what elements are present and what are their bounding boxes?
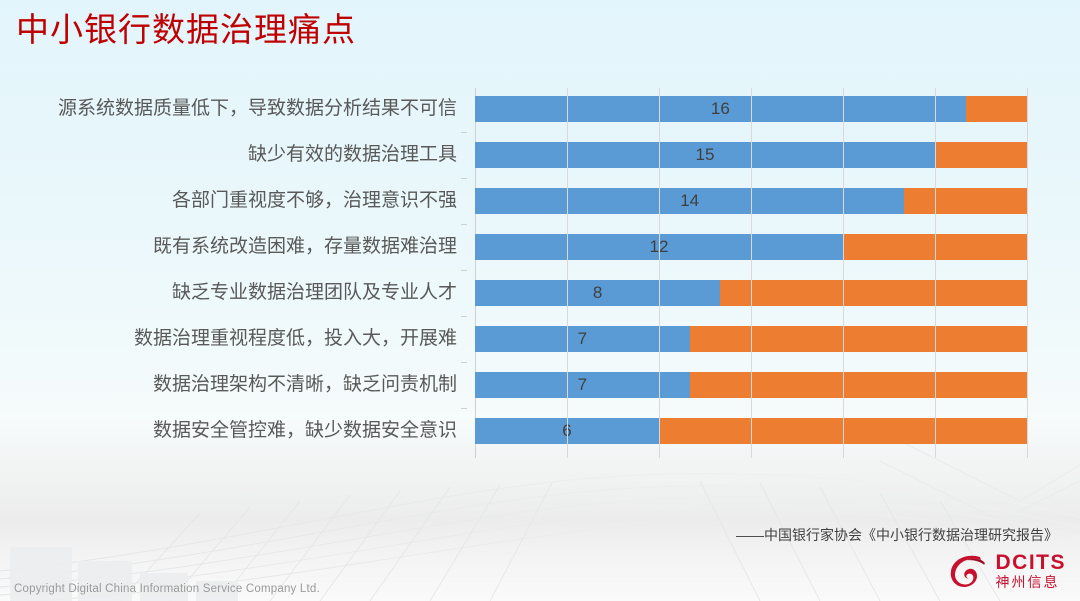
category-label: 各部门重视度不够，治理意识不强 xyxy=(172,188,457,214)
stacked-bar-chart: 源系统数据质量低下，导致数据分析结果不可信缺少有效的数据治理工具各部门重视度不够… xyxy=(0,88,1040,458)
category-label: 数据安全管控难，缺少数据安全意识 xyxy=(153,418,457,444)
bar-data-label: 14 xyxy=(475,188,904,214)
source-citation: ——中国银行家协会《中小银行数据治理研究报告》 xyxy=(736,525,1058,545)
bar-data-label: 16 xyxy=(475,96,966,122)
bar-segment-remainder[interactable] xyxy=(935,142,1027,168)
category-label: 数据治理架构不清晰，缺乏问责机制 xyxy=(153,372,457,398)
category-label: 既有系统改造困难，存量数据难治理 xyxy=(153,234,457,260)
gridline xyxy=(567,88,568,458)
logo-english-text: DCITS xyxy=(996,552,1067,574)
bar-segment-remainder[interactable] xyxy=(690,326,1027,352)
category-axis: 源系统数据质量低下，导致数据分析结果不可信缺少有效的数据治理工具各部门重视度不够… xyxy=(0,88,467,458)
bar-segment-value[interactable]: 16 xyxy=(475,96,966,122)
axis-tick xyxy=(461,224,467,225)
bar-segment-remainder[interactable] xyxy=(966,96,1027,122)
bar-data-label: 7 xyxy=(475,326,690,352)
bar-data-label: 15 xyxy=(475,142,935,168)
company-logo: DCITS 神州信息 xyxy=(947,549,1067,593)
chart-plot-area: 161514128776 xyxy=(475,88,1027,458)
bar-data-label: 8 xyxy=(475,280,720,306)
category-label: 数据治理重视程度低，投入大，开展难 xyxy=(134,326,457,352)
gridline xyxy=(659,88,660,458)
axis-tick xyxy=(461,132,467,133)
copyright-text: Copyright Digital China Information Serv… xyxy=(14,583,320,595)
category-label: 缺乏专业数据治理团队及专业人才 xyxy=(172,280,457,306)
bar-segment-value[interactable]: 7 xyxy=(475,326,690,352)
bar-segment-remainder[interactable] xyxy=(904,188,1027,214)
bar-segment-value[interactable]: 15 xyxy=(475,142,935,168)
category-label: 源系统数据质量低下，导致数据分析结果不可信 xyxy=(58,96,457,122)
logo-chinese-text: 神州信息 xyxy=(996,574,1067,590)
gridline xyxy=(843,88,844,458)
bar-segment-remainder[interactable] xyxy=(690,372,1027,398)
slide-canvas: 中小银行数据治理痛点 源系统数据质量低下，导致数据分析结果不可信缺少有效的数据治… xyxy=(0,0,1080,601)
bar-data-label: 7 xyxy=(475,372,690,398)
bar-segment-value[interactable]: 7 xyxy=(475,372,690,398)
dcits-swoosh-icon xyxy=(947,551,989,591)
bar-segment-value[interactable]: 14 xyxy=(475,188,904,214)
axis-tick xyxy=(461,362,467,363)
axis-tick xyxy=(461,316,467,317)
axis-tick xyxy=(461,270,467,271)
axis-tick xyxy=(461,178,467,179)
gridline xyxy=(751,88,752,458)
gridline xyxy=(1027,88,1028,458)
page-title: 中小银行数据治理痛点 xyxy=(16,8,356,52)
axis-tick xyxy=(461,408,467,409)
gridline xyxy=(935,88,936,458)
bar-segment-value[interactable]: 8 xyxy=(475,280,720,306)
category-label: 缺少有效的数据治理工具 xyxy=(248,142,457,168)
bar-segment-remainder[interactable] xyxy=(720,280,1027,306)
